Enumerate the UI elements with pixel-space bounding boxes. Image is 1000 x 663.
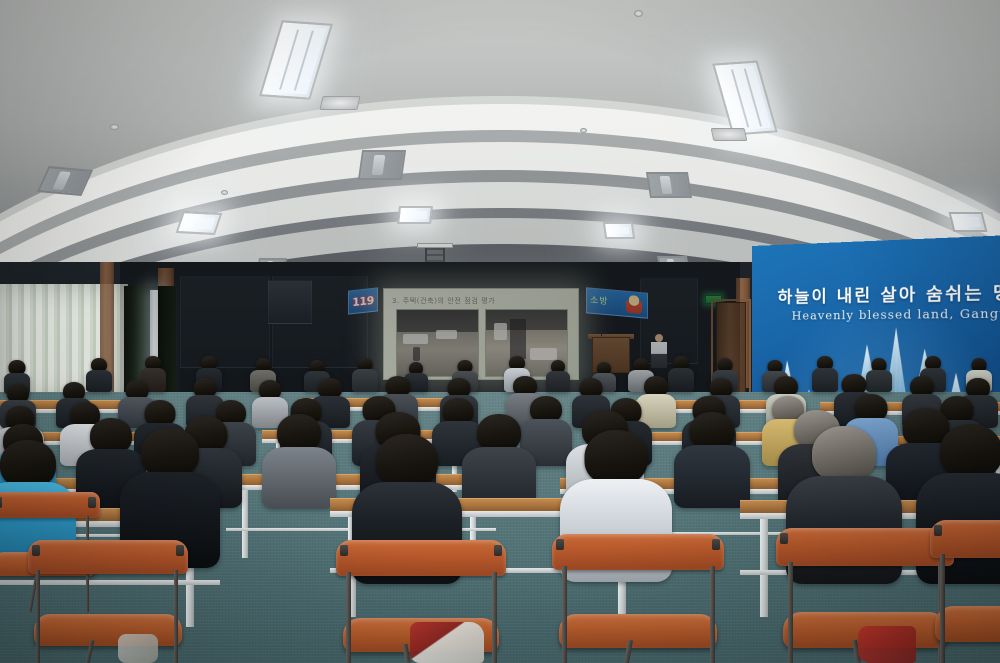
acoustic-panel	[268, 280, 312, 324]
ceiling-sprinkler	[580, 128, 587, 133]
ceiling-light-panel	[176, 211, 223, 235]
floor-item-bag	[410, 622, 484, 663]
ceiling-sprinkler	[221, 190, 228, 195]
ceiling-light-unlit	[646, 172, 692, 198]
microphone-icon	[601, 318, 602, 336]
chair[interactable]	[552, 534, 724, 663]
audience-member	[674, 412, 750, 508]
banner-right-label: 소방	[590, 293, 609, 308]
ceiling-light-unlit	[358, 150, 406, 180]
ceiling-light-panel	[259, 20, 333, 99]
ceiling-diffuser	[711, 128, 748, 141]
banner-119: 119	[348, 287, 378, 314]
audience-member	[546, 360, 570, 392]
ceiling-light-panel	[603, 222, 635, 239]
banner-119-label: 119	[349, 289, 377, 314]
acoustic-panel	[180, 276, 270, 368]
ceiling-diffuser	[319, 96, 360, 110]
slide-heading: 3. 주택(건축)의 안전 점검 평가	[392, 296, 572, 306]
audience-member	[262, 414, 336, 508]
lecture-hall-photograph: 119 소방 3. 주택(건축)의 안전 점검 평가	[0, 0, 1000, 663]
audience-member	[352, 358, 378, 392]
banner-right: 소방	[586, 287, 648, 318]
floor-item-bag	[858, 626, 916, 663]
chair[interactable]	[28, 540, 188, 663]
ceiling-light-panel	[397, 206, 433, 224]
chair[interactable]	[930, 520, 1000, 663]
ceiling-light-panel	[949, 212, 988, 232]
ceiling-sprinkler	[634, 10, 643, 17]
banner-mascot-icon	[626, 295, 642, 314]
ceiling-sprinkler	[110, 124, 119, 130]
floor-item-bag	[118, 634, 158, 663]
acoustic-panel	[640, 278, 698, 364]
audience-member	[462, 414, 536, 508]
